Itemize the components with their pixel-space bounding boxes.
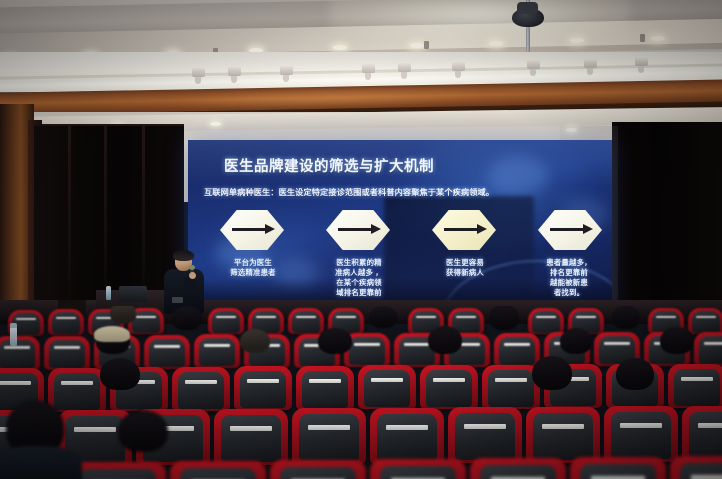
seat-pad [499, 337, 536, 366]
audience-member [100, 358, 140, 390]
audience-member [172, 306, 202, 330]
seat-pad [532, 311, 561, 333]
seat-pad [280, 467, 357, 479]
seat-number-tag [154, 345, 180, 348]
audience-member [532, 356, 572, 390]
spotlight-icon [398, 63, 411, 72]
table-row[interactable] [448, 407, 522, 463]
table-row[interactable] [670, 456, 722, 479]
screen-bokeh [488, 156, 548, 196]
seat-pad [488, 370, 534, 407]
microphone-head [189, 265, 195, 270]
table-row[interactable] [170, 461, 266, 479]
seat-number-tag [456, 316, 476, 318]
seat-number-tag [4, 346, 30, 349]
seat-number-tag [16, 318, 36, 320]
seat-number-tag [495, 378, 527, 382]
seat-number-tag [308, 425, 349, 430]
table-row[interactable] [0, 336, 40, 370]
spotlight-icon [452, 62, 465, 71]
seat-pad [349, 337, 386, 366]
curtain-fold [68, 126, 71, 316]
spotlight-icon [635, 57, 648, 66]
seat-pad [0, 340, 35, 369]
table-row[interactable] [172, 367, 230, 411]
seat-pad [49, 340, 86, 369]
table-row[interactable] [694, 332, 722, 366]
seat-pad [180, 468, 257, 479]
stage-curtain-right [612, 122, 722, 322]
audience-member [118, 410, 168, 452]
table-row[interactable] [214, 409, 288, 465]
arrow-shaft [444, 228, 478, 231]
seat-number-tag [576, 316, 596, 318]
downlight-icon [651, 36, 665, 41]
arrow-shaft [232, 228, 266, 231]
presenter-hand [189, 272, 196, 279]
audience-member [660, 327, 694, 354]
table-row[interactable] [570, 457, 666, 479]
table-row[interactable] [234, 366, 292, 410]
seat-number-tag [696, 316, 716, 318]
table-row[interactable] [526, 407, 600, 463]
seat-number-tag [247, 379, 279, 383]
seat-number-tag [433, 378, 465, 382]
table-row[interactable] [358, 365, 416, 409]
downlight-icon [333, 45, 347, 50]
slide-step-caption: 平台为医生 筛选精准患者 [210, 258, 296, 278]
seat-number-tag [464, 424, 505, 429]
seat-pad [689, 412, 722, 459]
table-row[interactable] [292, 408, 366, 464]
arrow-shaft [550, 228, 584, 231]
seat-pad [212, 311, 241, 333]
table-row[interactable] [494, 333, 540, 367]
seat-pad [692, 311, 721, 333]
presenter-badge [172, 297, 183, 303]
audience-member [428, 326, 462, 354]
table-row[interactable] [682, 406, 722, 462]
table-row[interactable] [44, 336, 90, 370]
seat-number-tag [136, 316, 156, 318]
seat-number-tag [185, 380, 217, 384]
seat-pad [611, 412, 670, 459]
water-bottle-cap [10, 323, 17, 328]
audience-member [612, 306, 640, 329]
table-row[interactable] [288, 308, 324, 334]
table-row[interactable] [270, 460, 366, 479]
seat-pad [80, 469, 157, 479]
ceiling-fixture-screw [640, 34, 645, 42]
table-row[interactable] [528, 308, 564, 334]
seat-number-tag [416, 316, 436, 318]
seat-number-tag [309, 379, 341, 383]
slide-step-row [188, 210, 612, 256]
projection-screen: 医生品牌建设的筛选与扩大机制 互联网单病种医生：医生设定特定接诊范围或者科普内容… [188, 140, 612, 308]
spotlight-icon [362, 64, 375, 73]
audience-seating [0, 306, 722, 479]
seat-pad [533, 413, 592, 460]
seat-number-tag [386, 425, 427, 430]
confidence-monitor [119, 286, 147, 302]
seat-number-tag [604, 342, 630, 345]
seat-number-tag [54, 346, 80, 349]
seat-pad [292, 311, 321, 333]
seat-number-tag [620, 423, 661, 428]
water-bottle [106, 286, 111, 300]
table-row[interactable] [688, 308, 722, 334]
audience-member-shoulders [0, 446, 82, 479]
seat-pad [299, 414, 358, 461]
seat-pad [178, 372, 224, 409]
audience-member [240, 329, 270, 353]
ceiling-fixture-screw [424, 41, 429, 49]
auditorium-photo: 医生品牌建设的筛选与扩大机制 互联网单病种医生：医生设定特定接诊范围或者科普内容… [0, 0, 722, 479]
seat-pad [699, 336, 722, 365]
slide-subtitle: 互联网单病种医生：医生设定特定接诊范围或者科普内容聚焦于某个疾病领域。 [204, 186, 494, 198]
seat-number-tag [542, 424, 583, 429]
right-arrow-icon [220, 210, 284, 250]
seat-number-tag [656, 316, 676, 318]
seat-pad [199, 338, 236, 367]
arrow-shaft [338, 228, 372, 231]
seat-number-tag [536, 316, 556, 318]
seat-number-tag [371, 378, 403, 382]
seat-number-tag [204, 344, 230, 347]
seat-pad [302, 371, 348, 408]
downlight-icon [210, 122, 221, 126]
seat-number-tag [216, 316, 236, 318]
downlight-icon [489, 41, 503, 46]
presenter-hair [173, 250, 194, 261]
table-row[interactable] [296, 366, 354, 410]
table-row[interactable] [70, 462, 166, 479]
audience-member [616, 358, 654, 390]
seat-number-tag [74, 427, 115, 432]
table-row[interactable] [668, 364, 722, 408]
seat-number-tag [681, 377, 713, 381]
spotlight-icon [584, 59, 597, 68]
seat-number-tag [256, 316, 276, 318]
slide-step-caption: 医生更容易 获得新病人 [422, 258, 508, 278]
audience-member-cap [94, 326, 130, 342]
audience-member [110, 306, 136, 324]
seat-pad [674, 369, 720, 406]
right-arrow-icon [538, 210, 602, 250]
table-row[interactable] [144, 335, 190, 369]
spotlight-icon [228, 67, 241, 76]
ceiling-projector-bracket [517, 2, 538, 14]
seat-number-tag [354, 343, 380, 346]
right-arrow-icon [326, 210, 390, 250]
right-arrow-icon [432, 210, 496, 250]
presenter [160, 252, 208, 314]
seat-pad [240, 371, 286, 408]
table-row[interactable] [370, 408, 444, 464]
downlight-icon [570, 38, 584, 43]
seat-pad [377, 414, 436, 461]
spotlight-icon [192, 68, 205, 77]
table-row[interactable] [370, 459, 466, 479]
table-row[interactable] [48, 309, 84, 335]
slide-step-caption: 医生积累的精 准病人越多 ， 在某个疾病领 域排名更靠前 [314, 258, 404, 298]
seat-number-tag [61, 381, 93, 385]
table-row[interactable] [470, 458, 566, 479]
seat-pad [221, 415, 280, 462]
spotlight-icon [280, 66, 293, 75]
slide-step-caption: 患者量越多， 排名更靠前 越能被新患 者找到。 [526, 258, 612, 298]
audience-member [489, 306, 519, 330]
seat-number-tag [691, 475, 722, 479]
water-bottle [10, 327, 17, 346]
seat-pad [364, 370, 410, 407]
table-row[interactable] [604, 406, 678, 462]
table-row[interactable] [208, 308, 244, 334]
table-row[interactable] [194, 334, 240, 368]
seat-number-tag [504, 343, 530, 346]
audience-member [318, 328, 352, 354]
seat-number-tag [230, 426, 271, 431]
seat-pad [380, 466, 457, 479]
spotlight-icon [527, 60, 540, 69]
seat-pad [52, 312, 81, 334]
seat-number-tag [56, 317, 76, 319]
seat-pad [149, 339, 186, 368]
audience-member [560, 328, 592, 354]
table-row[interactable] [48, 368, 106, 412]
ceiling-glow [330, 0, 630, 36]
table-row[interactable] [420, 365, 478, 409]
seat-number-tag [296, 316, 316, 318]
downlight-icon [410, 43, 424, 48]
seat-number-tag [404, 343, 430, 346]
seat-number-tag [698, 423, 722, 428]
slide-title: 医生品牌建设的筛选与扩大机制 [224, 155, 434, 176]
seat-pad [426, 370, 472, 407]
audience-member [369, 306, 397, 328]
seat-number-tag [336, 316, 356, 318]
seat-number-tag [704, 342, 722, 345]
seat-pad [54, 373, 100, 410]
seat-number-tag [0, 381, 31, 385]
seat-pad [455, 413, 514, 460]
